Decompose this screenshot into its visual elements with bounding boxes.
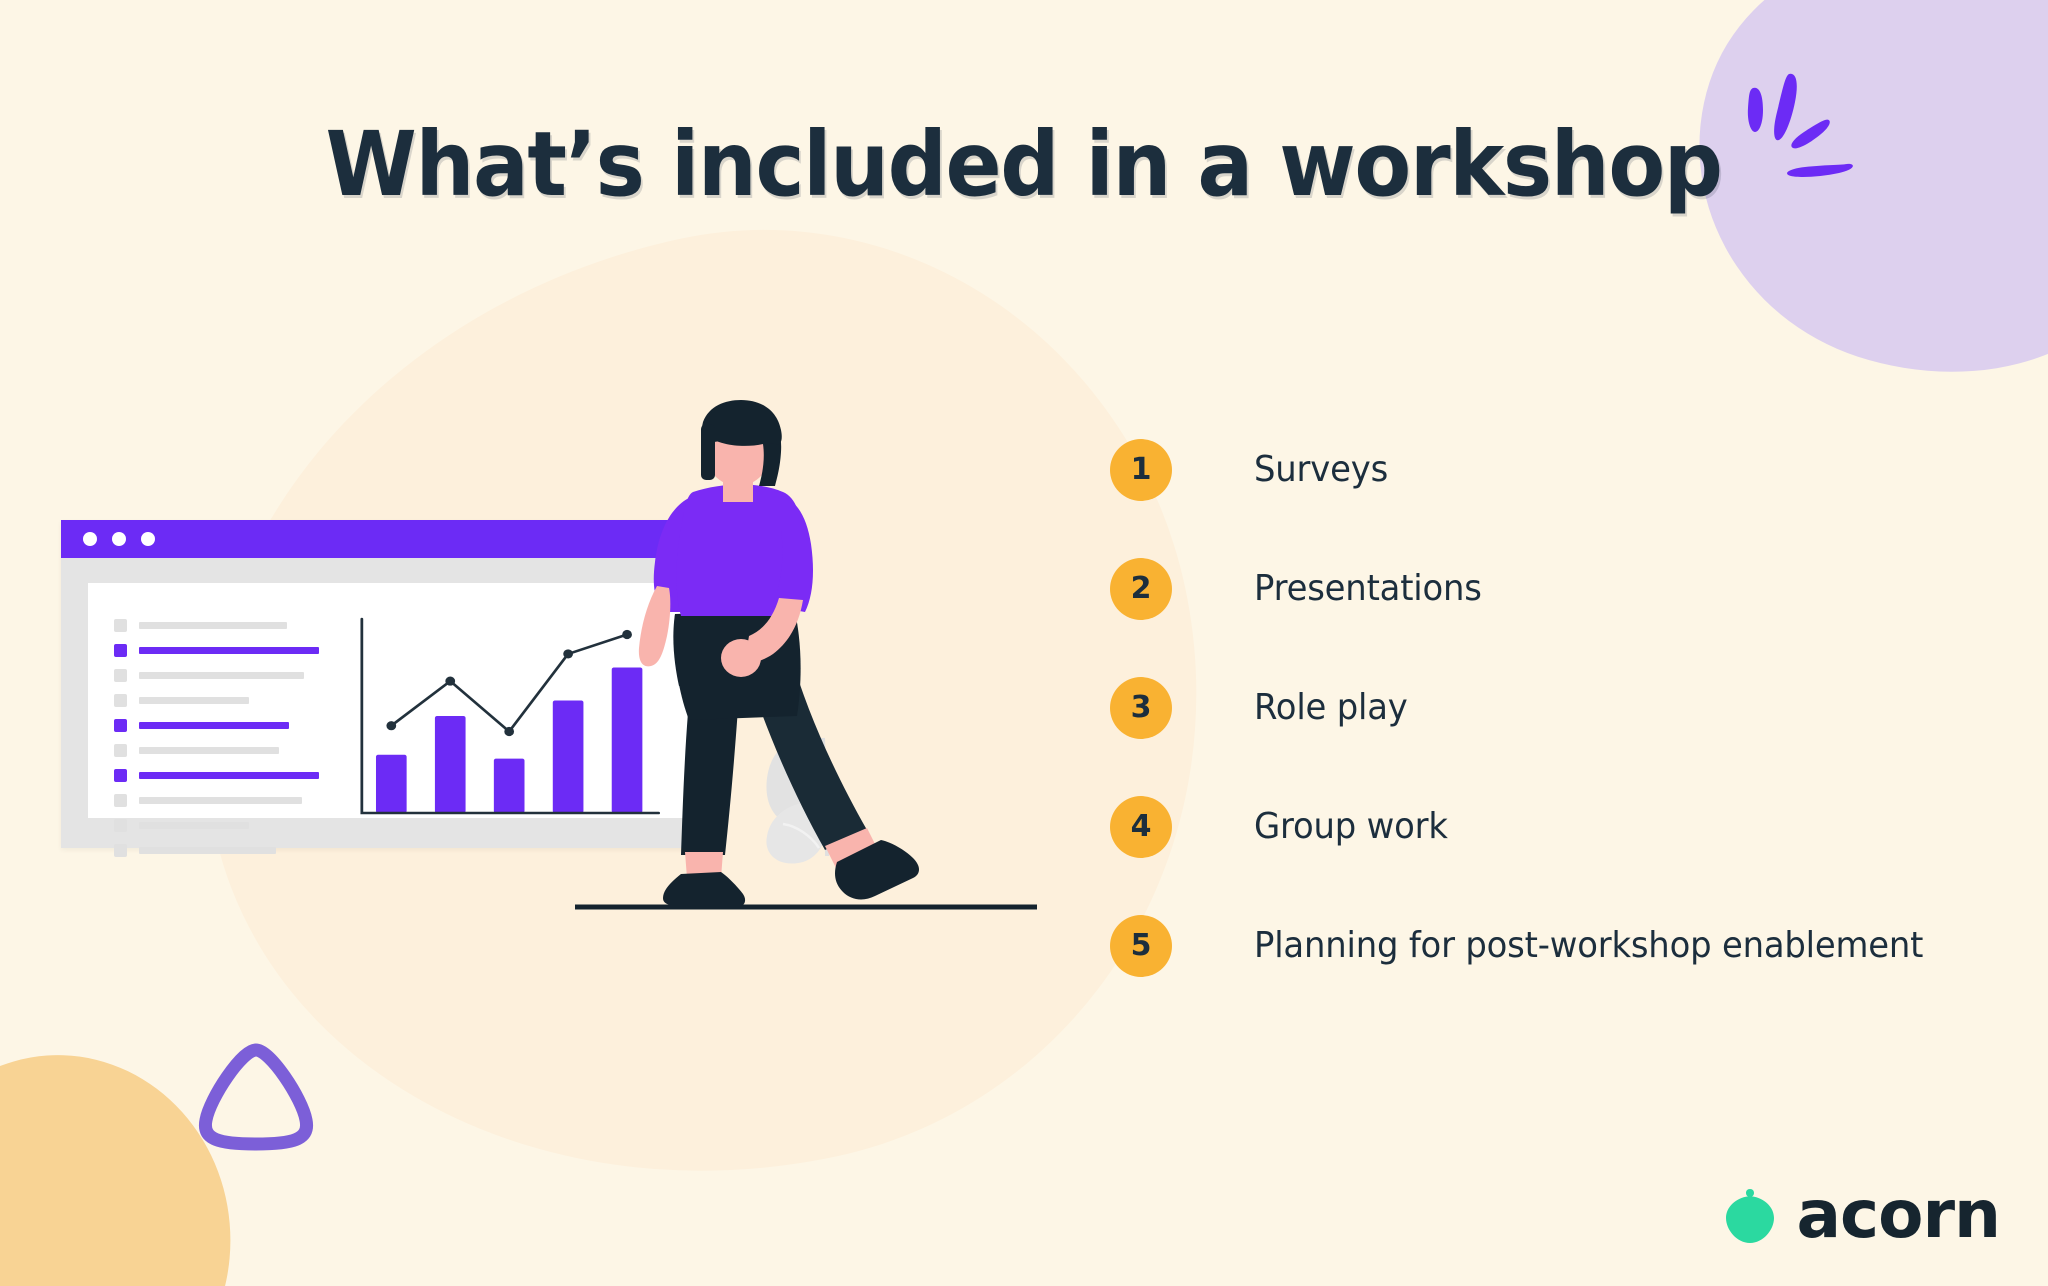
chart-data-point <box>386 721 396 730</box>
list-item[interactable]: 3Role play <box>1110 648 1990 767</box>
sidebar-row-marker <box>114 644 127 657</box>
slide-canvas: What’s included in a workshop <box>0 0 2048 1286</box>
chart-bar <box>376 755 407 813</box>
chart-data-point <box>445 676 455 685</box>
rounded-triangle-icon <box>196 1040 316 1152</box>
list-item-label: Role play <box>1254 687 1408 728</box>
chart-data-point <box>563 649 573 658</box>
list-item-label: Surveys <box>1254 449 1388 490</box>
dashboard-sidebar-list <box>114 609 319 798</box>
sidebar-row <box>114 813 319 838</box>
sidebar-row-bar <box>139 772 319 779</box>
sidebar-row-bar <box>139 697 249 704</box>
list-item-label: Planning for post-workshop enablement <box>1254 925 1923 966</box>
list-item-label: Presentations <box>1254 568 1482 609</box>
sidebar-row <box>114 613 319 638</box>
list-item-number-badge: 5 <box>1110 915 1172 977</box>
list-item[interactable]: 5Planning for post-workshop enablement <box>1110 886 1990 1005</box>
sidebar-row-marker <box>114 744 127 757</box>
list-item[interactable]: 1Surveys <box>1110 410 1990 529</box>
list-item[interactable]: 2Presentations <box>1110 529 1990 648</box>
sidebar-row <box>114 713 319 738</box>
chart-data-point <box>504 727 514 736</box>
chart-bar <box>435 716 466 813</box>
list-item-number-badge: 2 <box>1110 558 1172 620</box>
sidebar-row-bar <box>139 847 276 854</box>
sidebar-row-marker <box>114 719 127 732</box>
list-item-label: Group work <box>1254 806 1448 847</box>
sidebar-row <box>114 688 319 713</box>
acorn-logo: acorn <box>1722 1182 2000 1248</box>
list-item-number-badge: 1 <box>1110 439 1172 501</box>
window-dot-icon <box>112 532 126 546</box>
sidebar-row-marker <box>114 844 127 857</box>
chart-bar <box>494 759 525 813</box>
sidebar-row-bar <box>139 672 304 679</box>
sidebar-row <box>114 638 319 663</box>
acorn-icon <box>1722 1185 1778 1245</box>
standing-woman-illustration <box>575 400 1055 960</box>
sidebar-row-bar <box>139 622 287 629</box>
sidebar-row <box>114 663 319 688</box>
sidebar-row-marker <box>114 694 127 707</box>
lavender-corner-blob <box>1643 0 2048 432</box>
sidebar-row-marker <box>114 669 127 682</box>
sidebar-row-marker <box>114 769 127 782</box>
sidebar-row <box>114 738 319 763</box>
sidebar-row-marker <box>114 794 127 807</box>
sidebar-row-bar <box>139 647 319 654</box>
list-item-number-badge: 4 <box>1110 796 1172 858</box>
sidebar-row-bar <box>139 747 279 754</box>
list-item[interactable]: 4Group work <box>1110 767 1990 886</box>
sidebar-row <box>114 788 319 813</box>
sidebar-row-marker <box>114 819 127 832</box>
sidebar-row <box>114 838 319 863</box>
list-item-number-badge: 3 <box>1110 677 1172 739</box>
window-dot-icon <box>83 532 97 546</box>
window-dot-icon <box>141 532 155 546</box>
workshop-inclusions-list: 1Surveys2Presentations3Role play4Group w… <box>1110 410 1990 1005</box>
sidebar-row-bar <box>139 797 302 804</box>
logo-wordmark: acorn <box>1796 1182 2000 1248</box>
page-title: What’s included in a workshop <box>326 118 1722 211</box>
sidebar-row-bar <box>139 822 249 829</box>
sidebar-row-bar <box>139 722 289 729</box>
sidebar-row <box>114 763 319 788</box>
sidebar-row-marker <box>114 619 127 632</box>
